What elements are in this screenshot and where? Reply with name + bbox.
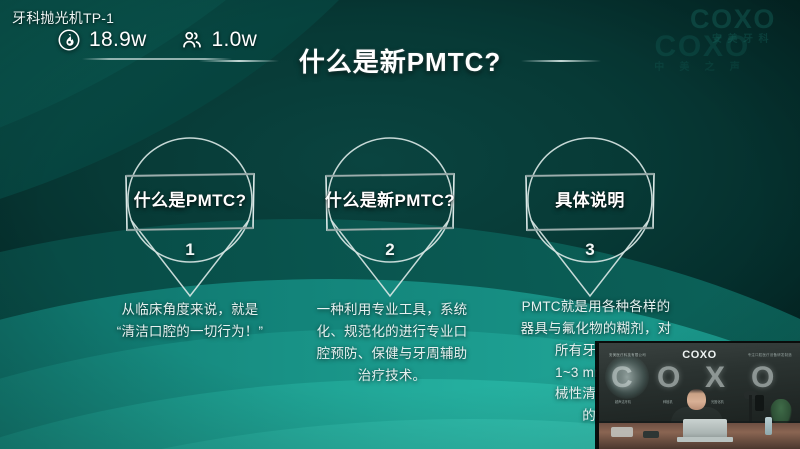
caption-2: 一种利用专业工具，系统 化、规范化的进行专业口 腔预防、保健与牙周辅助 治疗技术… xyxy=(306,299,478,386)
video-desk-object-left xyxy=(611,427,633,437)
caption-3-line-1: PMTC就是用各种各样的 xyxy=(506,296,686,318)
pin-label-2: 什么是新PMTC? xyxy=(300,186,480,211)
video-presenter-head xyxy=(687,389,706,410)
stream-device-title: 牙科抛光机TP-1 xyxy=(12,8,114,28)
caption-3-line-2: 器具与氟化物的糊剂，对 xyxy=(506,318,686,340)
video-wall-brand: COXO xyxy=(682,349,716,361)
video-wall-letter-o2: O xyxy=(751,361,773,395)
caption-1: 从临床角度来说，就是 “清洁口腔的一切行为！” xyxy=(108,299,272,343)
pin-marker-1: 什么是PMTC? 1 xyxy=(100,128,280,303)
video-wall-caption-3: 光固化机 xyxy=(711,399,724,404)
video-laptop-base xyxy=(677,437,733,442)
video-wall-text-left: 安美医疗科技有限公司 xyxy=(609,352,646,357)
pin-number-1: 1 xyxy=(100,240,280,260)
video-wall-letter-x: X xyxy=(705,361,724,395)
video-wall-letter-o1: O xyxy=(657,361,679,395)
video-wall-caption-2: 种植机 xyxy=(663,399,673,404)
video-bottle xyxy=(765,417,772,435)
video-overlay[interactable]: COXO 安美医疗科技有限公司 专注口腔医疗设备研发制造 C O X O 超声洁… xyxy=(597,341,800,449)
video-desk-object-left-2 xyxy=(643,431,659,438)
caption-1-line-2: “清洁口腔的一切行为！” xyxy=(108,321,272,343)
video-laptop-screen xyxy=(683,419,727,439)
pin-label-3: 具体说明 xyxy=(500,186,680,211)
pin-number-3: 3 xyxy=(500,240,680,260)
pin-marker-3: 具体说明 3 xyxy=(500,128,680,303)
pin-group: 什么是PMTC? 1 什么是新PMTC? 2 具体说明 3 xyxy=(0,128,800,303)
caption-2-line-3: 腔预防、保健与牙周辅助 xyxy=(306,343,478,365)
slide-title-row: 什么是新PMTC? xyxy=(0,42,800,79)
pin-label-1: 什么是PMTC? xyxy=(100,186,280,211)
pin-shape-icon xyxy=(300,128,480,303)
pin-shape-icon xyxy=(500,128,680,303)
video-wall-caption-1: 超声洁牙机 xyxy=(615,399,631,404)
video-phone xyxy=(755,395,764,411)
title-rule-left xyxy=(199,60,279,62)
caption-2-line-1: 一种利用专业工具，系统 xyxy=(306,299,478,321)
caption-2-line-4: 治疗技术。 xyxy=(306,365,478,387)
pin-shape-icon xyxy=(100,128,280,303)
caption-1-line-1: 从临床角度来说，就是 xyxy=(108,299,272,321)
slide-stage: COXO 安美牙科 COXO 中 美 之 声 牙科抛光机TP-1 18.9w 1… xyxy=(0,0,800,449)
caption-2-line-2: 化、规范化的进行专业口 xyxy=(306,321,478,343)
title-rule-right xyxy=(521,60,601,62)
video-wall-letter-c1: C xyxy=(611,361,632,395)
pin-marker-2: 什么是新PMTC? 2 xyxy=(300,128,480,303)
video-wall-text-right: 专注口腔医疗设备研发制造 xyxy=(748,352,792,357)
pin-number-2: 2 xyxy=(300,240,480,260)
page-title: 什么是新PMTC? xyxy=(299,42,502,79)
